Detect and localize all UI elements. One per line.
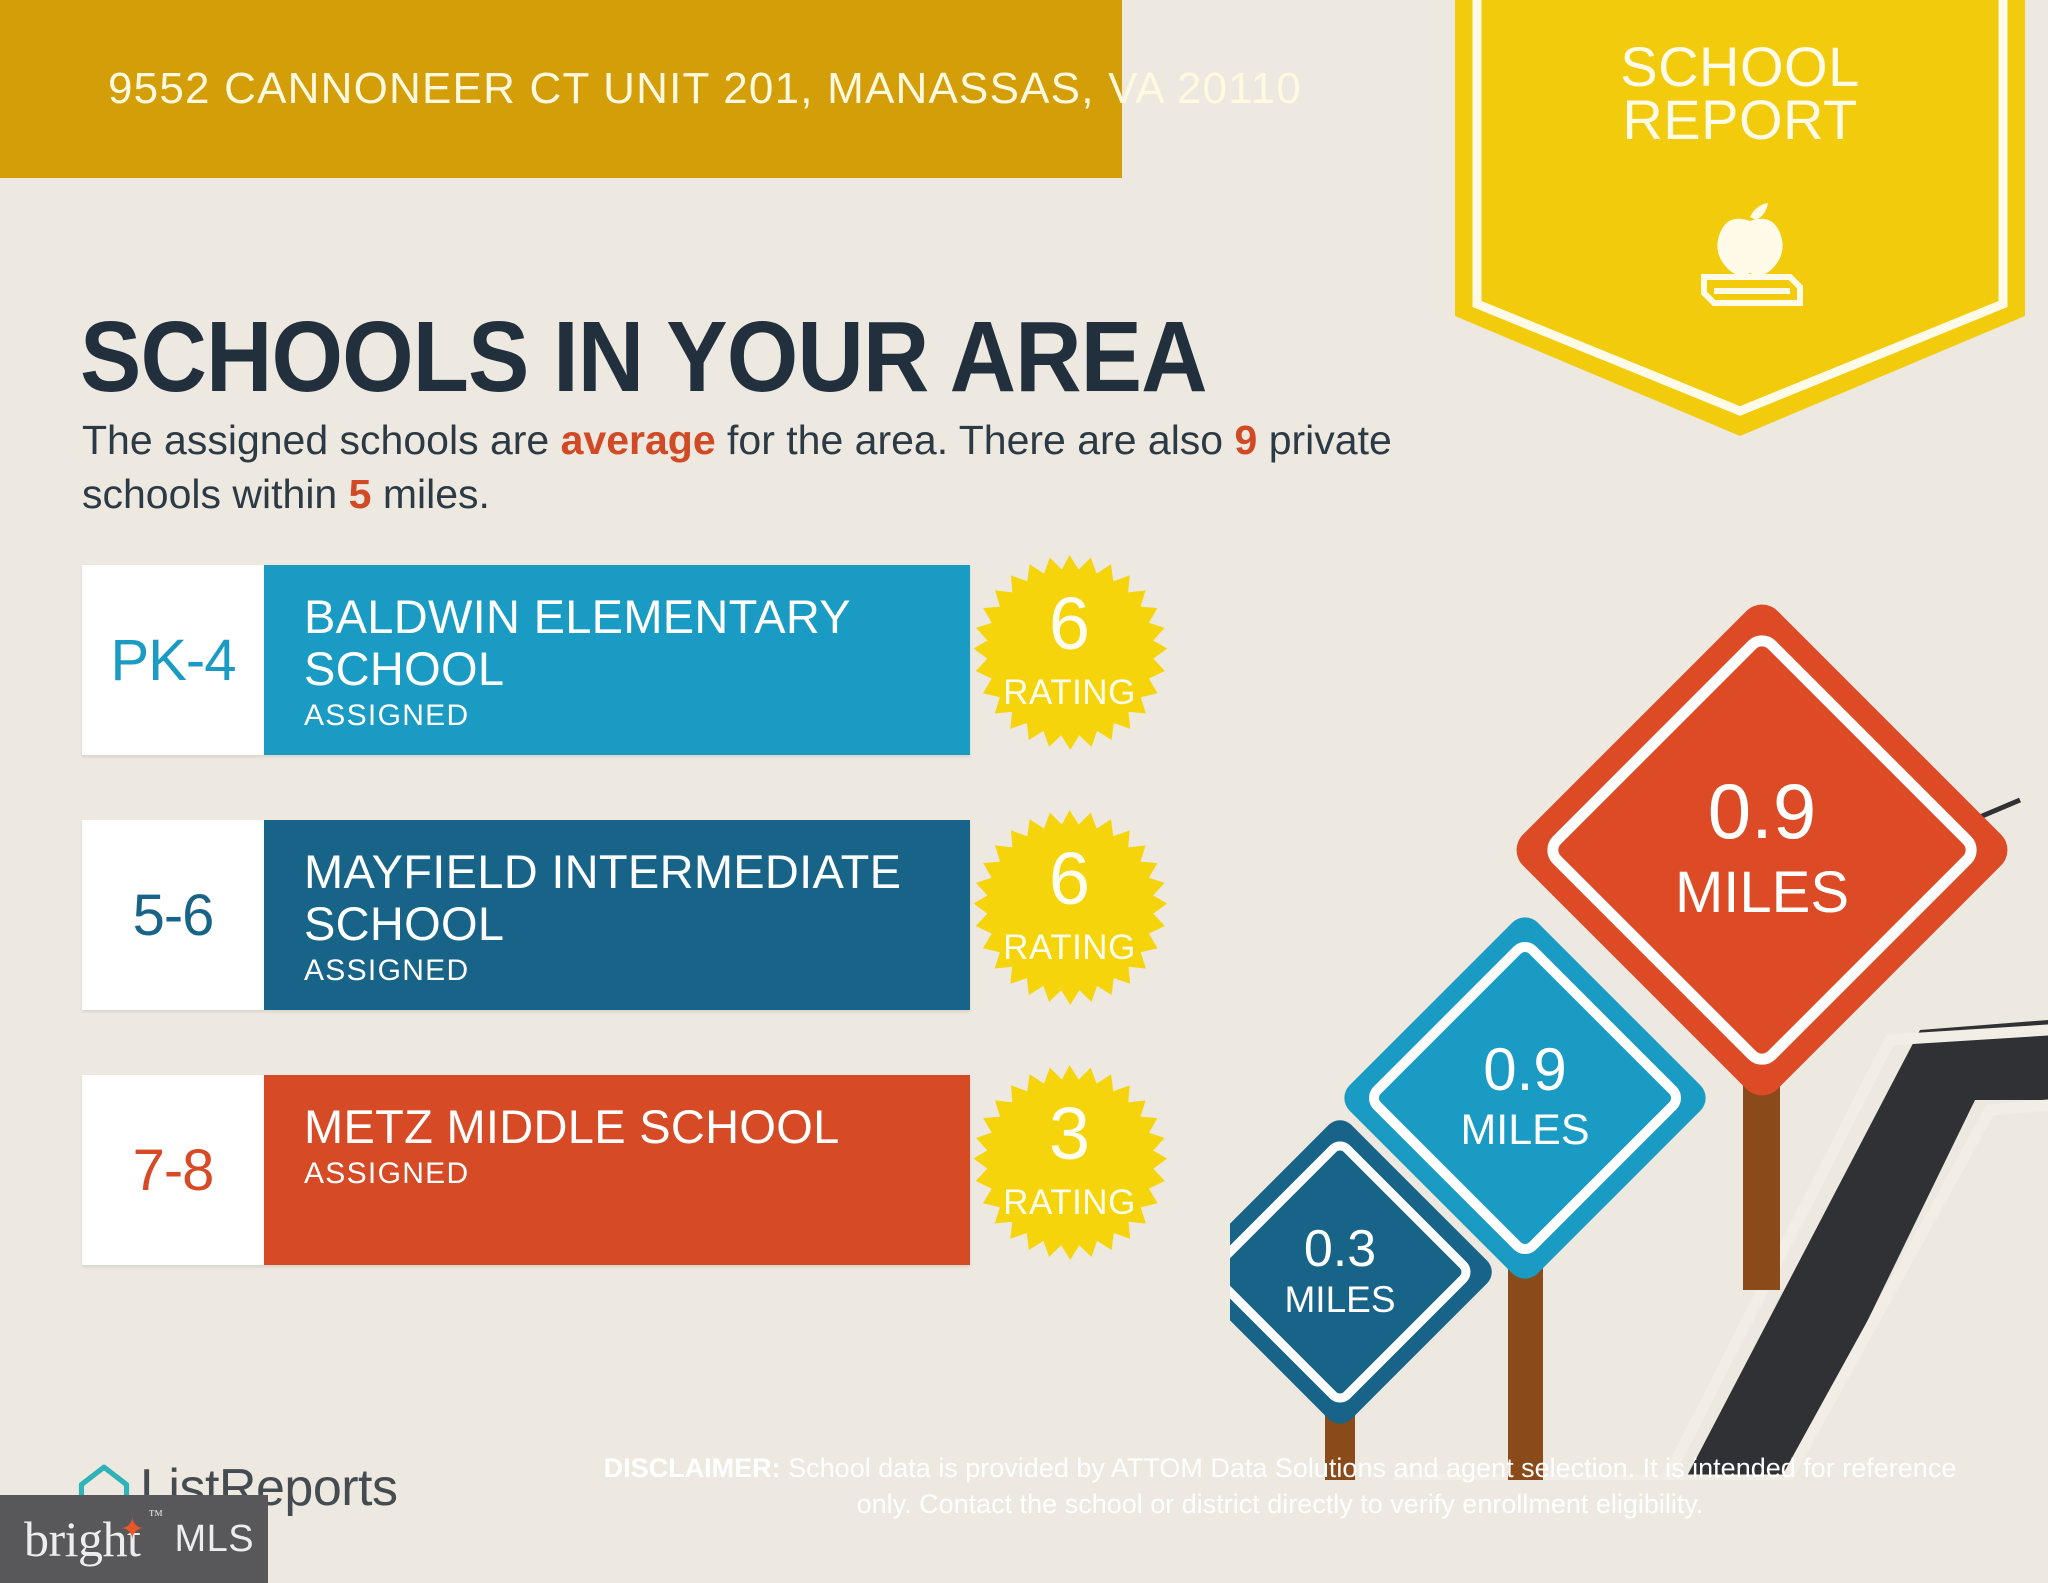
school-status: ASSIGNED [304, 954, 970, 988]
rating-label: RATING [962, 673, 1177, 713]
school-name: MAYFIELD INTERMEDIATE SCHOOL [304, 846, 970, 950]
subtitle-highlight-miles: 5 [349, 471, 372, 517]
disclaimer-text: School data is provided by ATTOM Data So… [781, 1453, 1957, 1519]
badge-line-1: SCHOOL [1560, 40, 1920, 93]
rating-value: 6 [962, 587, 1177, 661]
sign-unit: MILES [1284, 1279, 1395, 1320]
sign-unit: MILES [1675, 860, 1849, 925]
brightmls-star-icon: ✦ [120, 1512, 145, 1547]
subtitle-highlight-rating: average [561, 417, 716, 463]
subtitle-part-1: The assigned schools are [82, 417, 561, 463]
subtitle-part-2: for the area. There are also [716, 417, 1235, 463]
grade-box: PK-4 [82, 565, 264, 755]
badge-line-2: REPORT [1560, 93, 1920, 146]
page-title: SCHOOLS IN YOUR AREA [80, 307, 1207, 407]
school-bar: BALDWIN ELEMENTARY SCHOOL ASSIGNED [264, 565, 970, 755]
road-illustration: 0.9 MILES 0.9 MILES 0.3 MILES [1230, 600, 2048, 1480]
sign-distance: 0.3 [1304, 1220, 1376, 1278]
school-row: PK-4 BALDWIN ELEMENTARY SCHOOL ASSIGNED … [82, 565, 1112, 755]
disclaimer: DISCLAIMER: School data is provided by A… [600, 1450, 1960, 1523]
badge-label: SCHOOL REPORT [1560, 40, 1920, 146]
grade-box: 7-8 [82, 1075, 264, 1265]
school-status: ASSIGNED [304, 699, 970, 733]
grade-label: 5-6 [133, 882, 214, 949]
grade-label: 7-8 [133, 1137, 214, 1204]
school-row: 5-6 MAYFIELD INTERMEDIATE SCHOOL ASSIGNE… [82, 820, 1112, 1010]
property-address: 9552 CANNONEER CT UNIT 201, MANASSAS, VA… [108, 64, 1302, 114]
rating-value: 3 [962, 1097, 1177, 1171]
school-name: METZ MIDDLE SCHOOL [304, 1101, 970, 1153]
trademark-symbol: ™ [148, 1508, 162, 1525]
school-name: BALDWIN ELEMENTARY SCHOOL [304, 591, 970, 695]
sign-distance: 0.9 [1708, 767, 1816, 855]
subtitle-highlight-count: 9 [1235, 417, 1258, 463]
rating-badge: 6 RATING [962, 808, 1177, 1023]
school-list: PK-4 BALDWIN ELEMENTARY SCHOOL ASSIGNED … [82, 565, 1112, 1330]
subtitle-part-4: miles. [371, 471, 489, 517]
grade-label: PK-4 [111, 627, 236, 694]
header-bar: 9552 CANNONEER CT UNIT 201, MANASSAS, VA… [0, 0, 1122, 178]
school-row: 7-8 METZ MIDDLE SCHOOL ASSIGNED 3 RATING [82, 1075, 1112, 1265]
sign-unit: MILES [1460, 1106, 1589, 1154]
rating-value: 6 [962, 842, 1177, 916]
brightmls-logo: bright✦™ MLS [0, 1495, 268, 1583]
school-status: ASSIGNED [304, 1157, 970, 1191]
apple-on-books-icon [1690, 195, 1810, 315]
rating-badge: 3 RATING [962, 1063, 1177, 1278]
grade-box: 5-6 [82, 820, 264, 1010]
school-bar: METZ MIDDLE SCHOOL ASSIGNED [264, 1075, 970, 1265]
page-subtitle: The assigned schools are average for the… [82, 413, 1402, 521]
rating-badge: 6 RATING [962, 553, 1177, 768]
brightmls-mls-text: MLS [174, 1518, 254, 1561]
brightmls-wordmark: bright✦™ [24, 1510, 140, 1568]
school-bar: MAYFIELD INTERMEDIATE SCHOOL ASSIGNED [264, 820, 970, 1010]
disclaimer-word: DISCLAIMER: [604, 1453, 781, 1483]
rating-label: RATING [962, 928, 1177, 968]
rating-label: RATING [962, 1183, 1177, 1223]
sign-distance: 0.9 [1483, 1036, 1566, 1103]
